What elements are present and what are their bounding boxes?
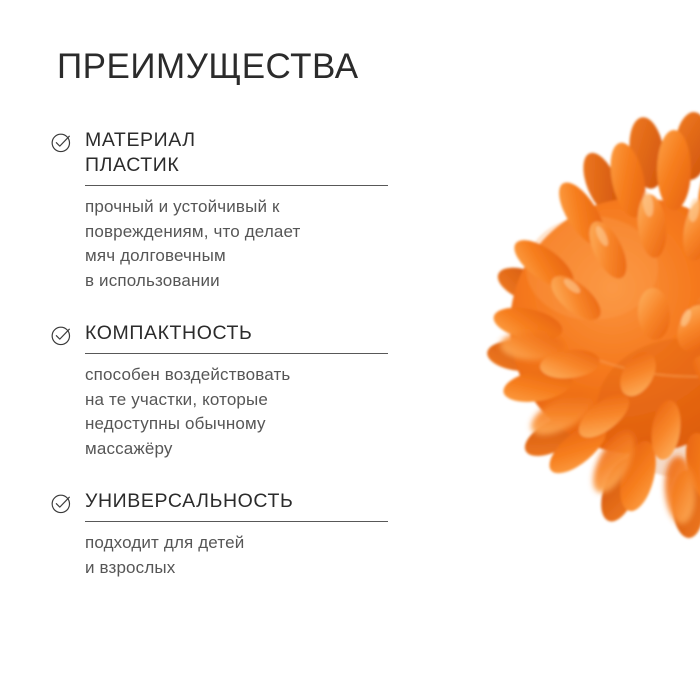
feature-body: подходит для детей и взрослых: [85, 531, 430, 580]
feature-body: прочный и устойчивый к повреждениям, что…: [85, 195, 430, 293]
features-list: МАТЕРИАЛ ПЛАСТИК прочный и устойчивый к …: [0, 128, 430, 580]
feature-body: способен воздействовать на те участки, к…: [85, 363, 430, 461]
infographic-page: ПРЕИМУЩЕСТВА МАТЕРИАЛ ПЛАСТИК прочный и …: [0, 0, 700, 700]
feature-item-universality: УНИВЕРСАЛЬНОСТЬ подходит для детей и взр…: [0, 489, 430, 580]
feature-divider: [85, 353, 388, 354]
product-image-massage-ball: [442, 118, 700, 588]
feature-divider: [85, 185, 388, 186]
feature-heading: УНИВЕРСАЛЬНОСТЬ: [85, 489, 430, 514]
content-column: ПРЕИМУЩЕСТВА МАТЕРИАЛ ПЛАСТИК прочный и …: [0, 0, 430, 700]
check-circle-icon: [51, 493, 72, 514]
page-title: ПРЕИМУЩЕСТВА: [57, 47, 359, 87]
check-circle-icon: [51, 132, 72, 153]
check-circle-icon: [51, 325, 72, 346]
feature-item-material: МАТЕРИАЛ ПЛАСТИК прочный и устойчивый к …: [0, 128, 430, 293]
feature-heading: КОМПАКТНОСТЬ: [85, 321, 430, 346]
feature-heading: МАТЕРИАЛ ПЛАСТИК: [85, 128, 430, 178]
feature-divider: [85, 521, 388, 522]
feature-item-compactness: КОМПАКТНОСТЬ способен воздействовать на …: [0, 321, 430, 461]
